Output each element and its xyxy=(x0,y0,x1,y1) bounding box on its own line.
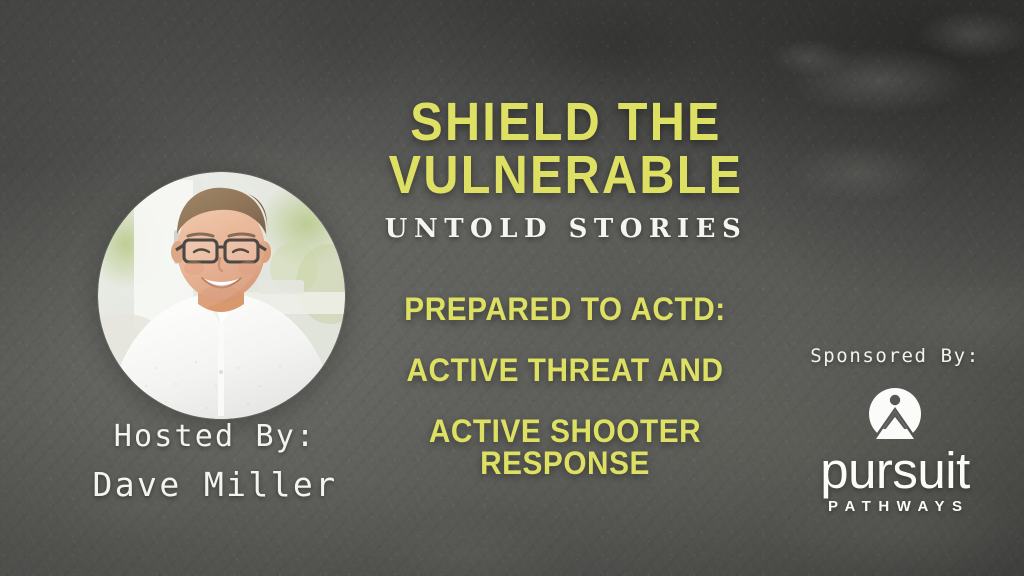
sponsored-by-label: Sponsored By: xyxy=(775,345,1015,367)
sponsor-section: Sponsored By: pu xyxy=(775,345,1015,515)
sponsor-wordmark: pursuit xyxy=(820,445,970,496)
show-title-line-2: VULNERABLE xyxy=(363,149,770,202)
host-portrait-avatar xyxy=(98,172,345,419)
show-title: SHIELD THE VULNERABLE xyxy=(363,96,770,202)
show-subtitle: UNTOLD STORIES xyxy=(340,214,792,244)
sponsor-logo: pursuit PATHWAYS xyxy=(775,387,1015,515)
sponsor-tagline: PATHWAYS xyxy=(821,498,970,515)
mountain-peak-person-circle-icon xyxy=(868,387,922,441)
episode-title: PREPARED TO ACTD: ACTIVE THREAT AND ACTI… xyxy=(330,293,800,479)
host-portrait-image xyxy=(98,172,345,419)
podcast-episode-title-card: Hosted By: Dave Miller SHIELD THE VULNER… xyxy=(0,0,1024,576)
episode-title-line-1: PREPARED TO ACTD: xyxy=(346,293,783,325)
episode-title-line-2: ACTIVE THREAT AND xyxy=(346,354,783,386)
episode-title-line-3: ACTIVE SHOOTER RESPONSE xyxy=(346,415,783,479)
show-title-line-1: SHIELD THE xyxy=(363,96,770,149)
show-branding: SHIELD THE VULNERABLE UNTOLD STORIES xyxy=(340,96,792,244)
